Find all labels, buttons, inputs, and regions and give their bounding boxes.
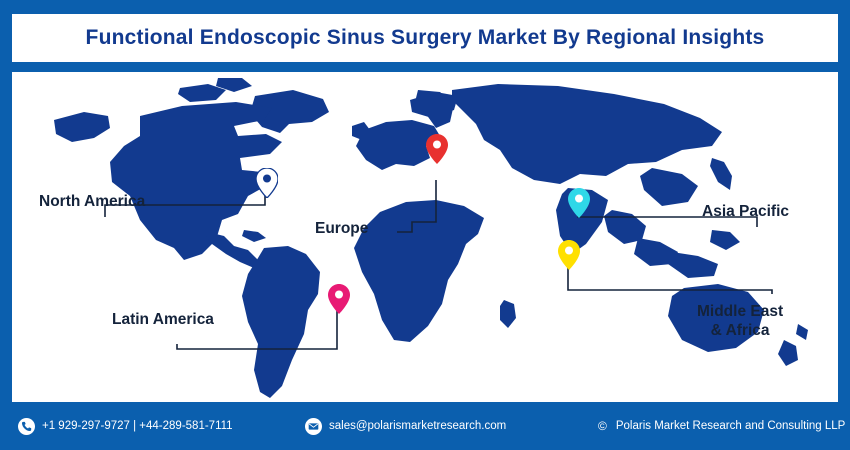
leader-lines	[12, 72, 838, 402]
footer-email[interactable]: sales@polarismarketresearch.com	[305, 418, 506, 435]
infographic-page: Functional Endoscopic Sinus Surgery Mark…	[0, 0, 850, 450]
label-europe: Europe	[315, 219, 368, 238]
label-mea-line1: Middle East	[697, 303, 783, 320]
copyright-icon: ©	[598, 419, 607, 433]
footer-copyright-text: Polaris Market Research and Consulting L…	[616, 420, 845, 432]
pin-icon	[328, 284, 350, 314]
label-latin-america: Latin America	[112, 310, 214, 329]
pin-icon	[256, 168, 278, 198]
label-middle-east-africa: Middle East & Africa	[697, 302, 783, 341]
phone-icon	[18, 418, 35, 435]
page-title: Functional Endoscopic Sinus Surgery Mark…	[86, 26, 765, 50]
footer-phone-text: +1 929-297-9727 | +44-289-581-7111	[42, 420, 233, 432]
map-pin-asia-pacific[interactable]	[568, 188, 590, 223]
map-pin-europe[interactable]	[426, 134, 448, 169]
footer-email-text: sales@polarismarketresearch.com	[329, 420, 506, 432]
label-north-america: North America	[39, 192, 145, 211]
footer-bar: +1 929-297-9727 | +44-289-581-7111 sales…	[0, 402, 850, 450]
label-asia-pacific: Asia Pacific	[702, 202, 789, 221]
map-pin-latin-america[interactable]	[328, 284, 350, 319]
footer-copyright: © Polaris Market Research and Consulting…	[598, 419, 845, 433]
pin-icon	[558, 240, 580, 270]
label-mea-line2: & Africa	[711, 322, 770, 339]
map-pin-middle-east-africa[interactable]	[558, 240, 580, 275]
title-bar: Functional Endoscopic Sinus Surgery Mark…	[12, 14, 838, 62]
pin-icon	[426, 134, 448, 164]
footer-phone[interactable]: +1 929-297-9727 | +44-289-581-7111	[18, 418, 233, 435]
envelope-icon	[305, 418, 322, 435]
world-map-panel: North America Europe Asia Pacific Latin …	[12, 72, 838, 402]
map-pin-north-america[interactable]	[256, 168, 278, 203]
pin-icon	[568, 188, 590, 218]
